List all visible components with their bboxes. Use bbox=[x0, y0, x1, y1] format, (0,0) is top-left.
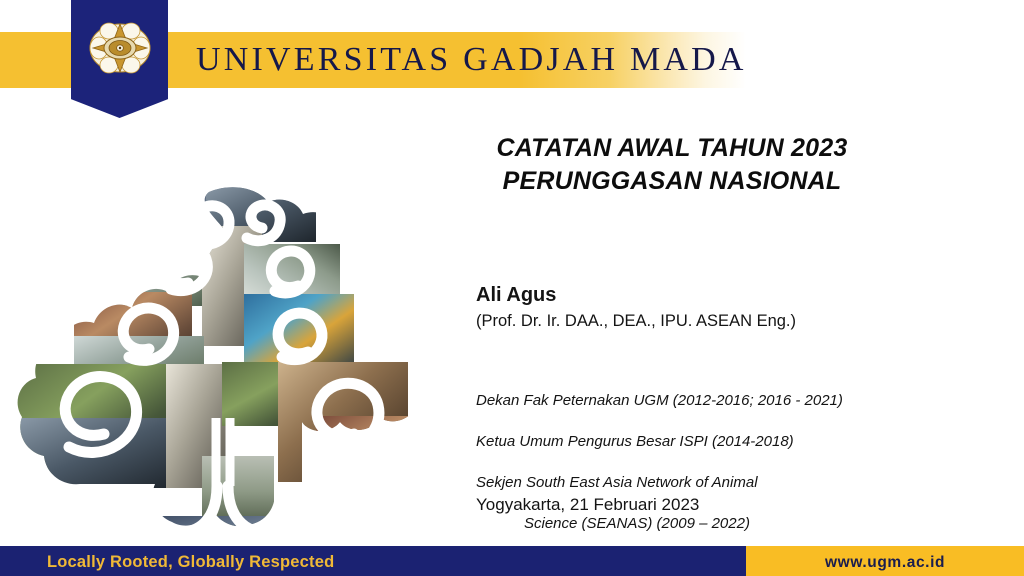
ugm-tree-of-life-photo-collage bbox=[16, 186, 452, 558]
presentation-slide: UNIVERSITAS GADJAH MADA bbox=[0, 0, 1024, 576]
slide-title-line-2: PERUNGGASAN NASIONAL bbox=[462, 165, 882, 198]
speaker-credentials: (Prof. Dr. Ir. DAA., DEA., IPU. ASEAN En… bbox=[476, 310, 796, 333]
affiliation-line: Dekan Fak Peternakan UGM (2012-2016; 201… bbox=[476, 391, 843, 412]
footer-website-url[interactable]: www.ugm.ac.id bbox=[825, 552, 945, 574]
speaker-name: Ali Agus bbox=[476, 282, 556, 308]
ugm-crest-star-emblem bbox=[89, 22, 151, 74]
slide-title-line-1: CATATAN AWAL TAHUN 2023 bbox=[462, 132, 882, 165]
speaker-affiliations: Dekan Fak Peternakan UGM (2012-2016; 201… bbox=[476, 370, 843, 555]
slide-title: CATATAN AWAL TAHUN 2023 PERUNGGASAN NASI… bbox=[462, 132, 882, 198]
ugm-crest-banner bbox=[71, 0, 168, 118]
event-place-date: Yogyakarta, 21 Februari 2023 bbox=[476, 493, 699, 517]
institution-title: UNIVERSITAS GADJAH MADA bbox=[196, 38, 747, 82]
affiliation-line: Sekjen South East Asia Network of Animal bbox=[476, 473, 843, 494]
affiliation-line: Ketua Umum Pengurus Besar ISPI (2014-201… bbox=[476, 432, 843, 453]
footer-tagline: Locally Rooted, Globally Respected bbox=[47, 551, 334, 573]
